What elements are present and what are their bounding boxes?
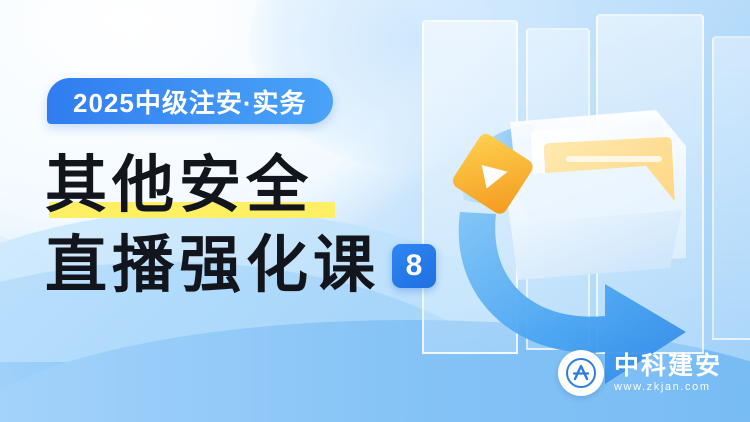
- logo-name: 中科建安: [614, 353, 722, 380]
- brand-logo: 中科建安 www.zkjan.com: [558, 350, 722, 396]
- course-tag-label: 2025中级注安·实务: [73, 83, 307, 120]
- logo-mark-icon: [558, 350, 604, 396]
- headline-line-1: 其他安全: [45, 155, 313, 217]
- logo-url: www.zkjan.com: [614, 380, 722, 394]
- headline-line-2-row: 直播强化课 8: [45, 230, 465, 302]
- course-tag-pill: 2025中级注安·实务: [47, 78, 333, 124]
- logo-text-block: 中科建安 www.zkjan.com: [614, 353, 722, 394]
- headline-line-2: 直播强化课: [45, 235, 380, 297]
- headline-block: 其他安全 直播强化课 8: [45, 150, 465, 302]
- course-banner: 2025中级注安·实务 其他安全 直播强化课 8 中科建安 www.zkjan.…: [0, 0, 750, 422]
- headline-line-1-row: 其他安全: [45, 150, 465, 222]
- document-line-1: [566, 156, 662, 162]
- episode-badge: 8: [392, 244, 436, 288]
- monogram-icon: [566, 358, 596, 388]
